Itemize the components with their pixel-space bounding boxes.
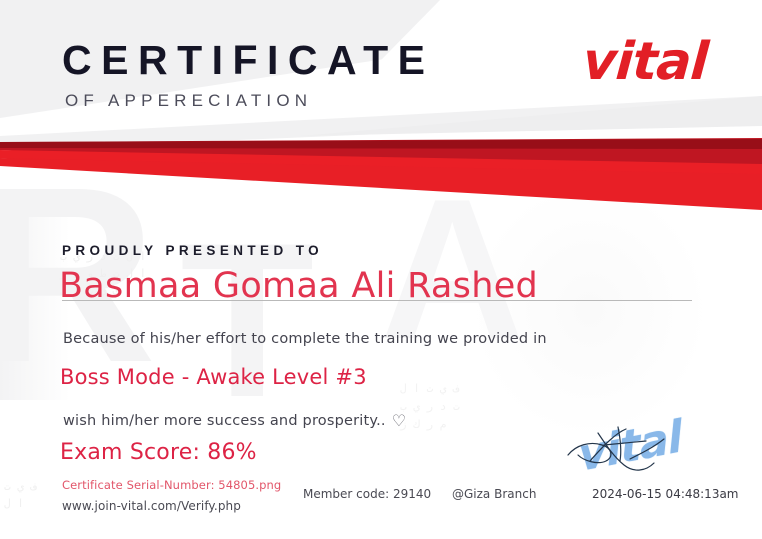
signature-stamp: vital xyxy=(560,415,730,495)
background-soft-blob xyxy=(470,180,710,440)
branch-name: @Giza Branch xyxy=(452,487,536,501)
presented-to-label: PROUDLY PRESENTED TO xyxy=(62,243,323,258)
verify-url-link[interactable]: www.join-vital.com/Verify.php xyxy=(62,499,241,513)
certificate-subtitle: OF APPERECIATION xyxy=(65,92,435,109)
certificate-serial-number: Certificate Serial-Number: 54805.png xyxy=(62,478,281,492)
certificate-title: CERTIFICATE xyxy=(62,40,435,81)
member-code: Member code: 29140 xyxy=(303,487,431,501)
certificate-title-block: CERTIFICATE OF APPERECIATION xyxy=(62,40,435,109)
recipient-name-underline xyxy=(62,300,692,301)
wish-text: wish him/her more success and prosperity… xyxy=(63,413,386,429)
course-title: Boss Mode - Awake Level #3 xyxy=(60,365,367,389)
heart-icon: ♡ xyxy=(392,411,407,430)
wish-text-line: wish him/her more success and prosperity… xyxy=(63,411,406,430)
certificate-document: R T A ا ل ت د ر ي ب ا ل ت ط و ي ر ف ي ت … xyxy=(0,0,762,539)
handwritten-signature-icon xyxy=(560,415,730,495)
exam-score: Exam Score: 86% xyxy=(60,440,257,465)
reason-text: Because of his/her effort to complete th… xyxy=(63,331,547,347)
vital-logo: vital xyxy=(581,36,709,88)
